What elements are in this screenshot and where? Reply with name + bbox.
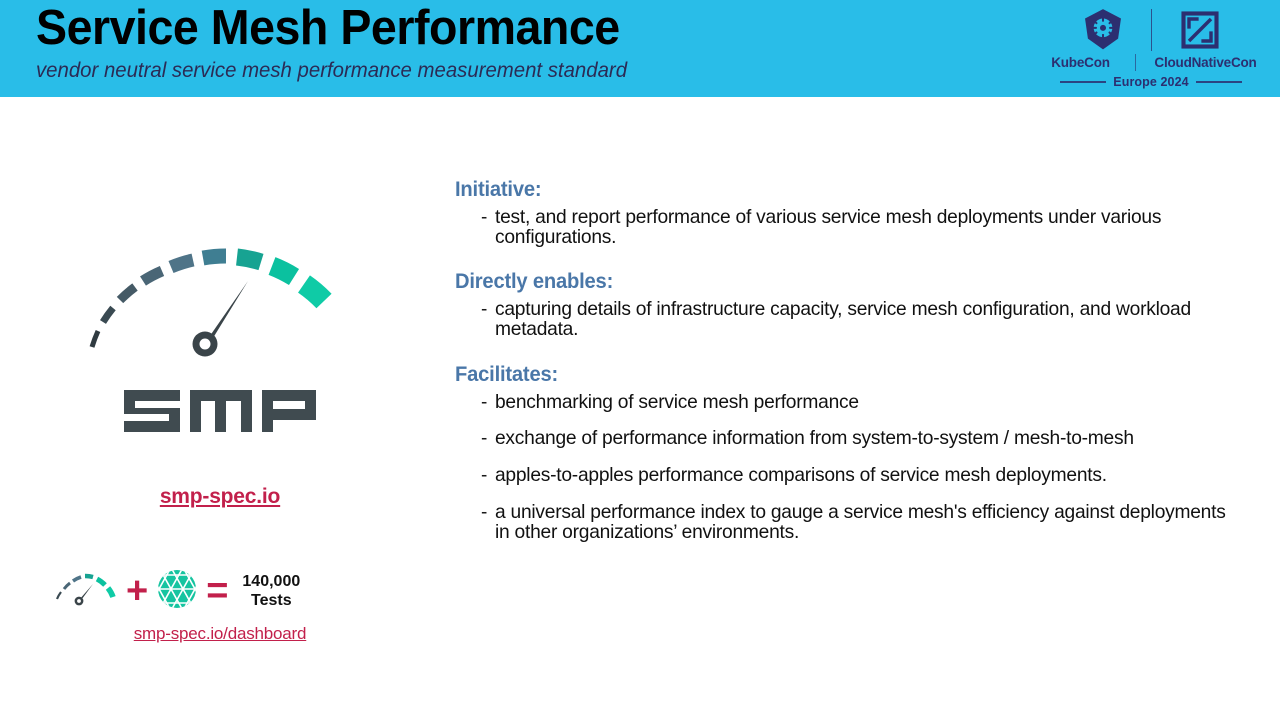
tests-label: Tests: [242, 591, 300, 610]
smp-wordmark: [0, 380, 440, 447]
list-item: - capturing details of infrastructure ca…: [455, 300, 1245, 340]
bullet-text: capturing details of infrastructure capa…: [495, 300, 1234, 340]
left-branding-panel: smp-spec.io +: [0, 97, 440, 720]
conference-names-divider: [1135, 54, 1136, 71]
equals-icon: =: [206, 572, 228, 610]
meshery-sphere-icon: [156, 568, 198, 615]
section-facilitates: Facilitates: - benchmarking of service m…: [455, 363, 1245, 543]
small-gauge-icon: [52, 566, 118, 617]
cloudnativecon-square-icon: [1152, 8, 1248, 52]
bullet-marker: -: [455, 393, 495, 412]
section-heading-facilitates: Facilitates:: [455, 363, 1213, 387]
conference-logo-marks: [1030, 6, 1272, 54]
list-item: - exchange of performance information fr…: [455, 429, 1245, 449]
tests-result: 140,000 Tests: [242, 572, 300, 610]
section-heading-directly-enables: Directly enables:: [455, 270, 1213, 294]
kubecon-helm-icon: [1055, 7, 1151, 53]
dashboard-link-row: smp-spec.io/dashboard: [0, 624, 440, 644]
bullet-marker: -: [455, 300, 495, 319]
bullet-marker: -: [455, 503, 495, 522]
smp-spec-link-row: smp-spec.io: [0, 485, 440, 509]
bullet-text: benchmarking of service mesh performance: [495, 393, 1234, 413]
conference-rule-right: [1196, 81, 1242, 83]
slide-header: Service Mesh Performance vendor neutral …: [0, 0, 1280, 97]
page-title: Service Mesh Performance: [36, 2, 986, 55]
smp-spec-link[interactable]: smp-spec.io: [160, 485, 280, 508]
list-item: - apples-to-apples performance compariso…: [455, 466, 1245, 486]
dashboard-link[interactable]: smp-spec.io/dashboard: [134, 624, 307, 643]
plus-icon: +: [126, 572, 148, 610]
bullet-text: a universal performance index to gauge a…: [495, 503, 1234, 543]
bullet-text: apples-to-apples performance comparisons…: [495, 466, 1234, 486]
list-item: - test, and report performance of variou…: [455, 208, 1245, 248]
list-item: - benchmarking of service mesh performan…: [455, 393, 1245, 413]
conference-logo-divider: [1151, 9, 1152, 51]
section-heading-initiative: Initiative:: [455, 178, 1213, 202]
tests-equation: + = 140,000 Tests: [52, 559, 392, 623]
conference-rule-left: [1060, 81, 1106, 83]
section-directly-enables: Directly enables: - capturing details of…: [455, 270, 1245, 340]
bullet-marker: -: [455, 429, 495, 448]
conference-year-label: Europe 2024: [1113, 75, 1188, 89]
kubecon-label: KubeCon: [1033, 55, 1129, 70]
conference-year-row: Europe 2024: [1030, 75, 1272, 89]
tests-count: 140,000: [242, 572, 300, 591]
page-subtitle: vendor neutral service mesh performance …: [36, 59, 1006, 82]
bullet-text: exchange of performance information from…: [495, 429, 1234, 449]
section-initiative: Initiative: - test, and report performan…: [455, 178, 1245, 248]
bullet-marker: -: [455, 466, 495, 485]
performance-gauge-icon: [72, 207, 372, 367]
bullet-marker: -: [455, 208, 495, 227]
gauge-needle: [193, 281, 249, 357]
content-panel: Initiative: - test, and report performan…: [455, 178, 1245, 560]
list-item: - a universal performance index to gauge…: [455, 503, 1245, 543]
cloudnativecon-label: CloudNativeCon: [1142, 55, 1270, 70]
header-text-block: Service Mesh Performance vendor neutral …: [36, 2, 1036, 82]
bullet-text: test, and report performance of various …: [495, 208, 1234, 248]
conference-logo-names: KubeCon CloudNativeCon: [1030, 54, 1272, 71]
conference-logo: KubeCon CloudNativeCon Europe 2024: [1030, 4, 1272, 96]
